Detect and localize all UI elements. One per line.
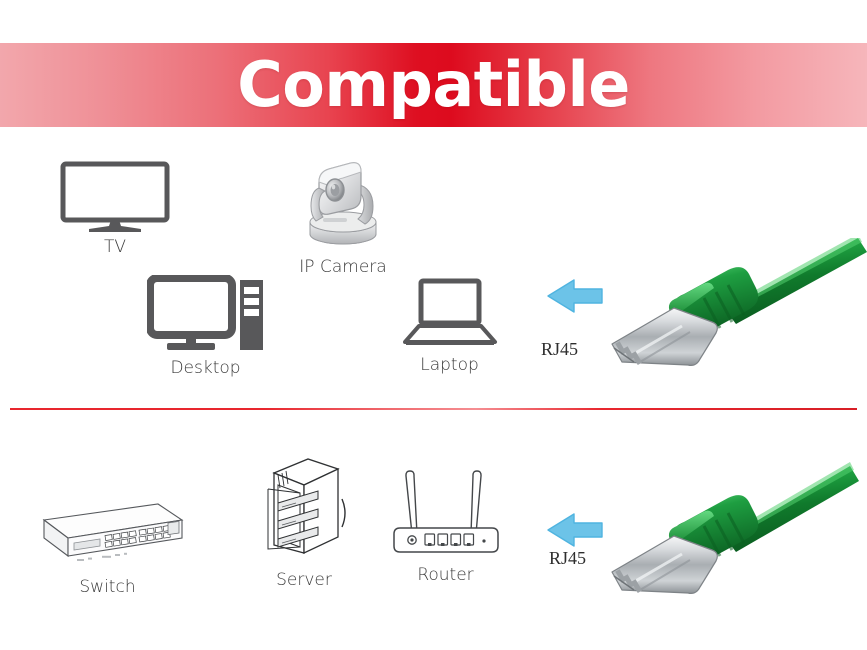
- device-laptop: Laptop: [392, 278, 507, 375]
- rj45-label-bottom: RJ45: [549, 548, 586, 569]
- desktop-icon: [138, 275, 273, 358]
- device-label-laptop: Laptop: [392, 355, 507, 375]
- tv-icon: [45, 160, 185, 237]
- ip-camera-icon: [283, 160, 403, 257]
- device-switch: Switch: [30, 490, 185, 597]
- rj45-cable-icon-top: [600, 238, 867, 375]
- laptop-icon: [392, 278, 507, 355]
- network-switch-icon: [30, 490, 185, 577]
- wifi-router-icon: [388, 460, 503, 565]
- device-label-tv: TV: [45, 237, 185, 257]
- device-desktop: Desktop: [138, 275, 273, 378]
- arrow-left-icon-bottom: [546, 512, 604, 553]
- compatibility-diagram: Compatible TV: [0, 0, 867, 650]
- rj45-label-top: RJ45: [541, 339, 578, 360]
- device-server: Server: [256, 455, 352, 590]
- device-router: Router: [388, 460, 503, 585]
- section-divider: [10, 408, 857, 410]
- device-label-desktop: Desktop: [138, 358, 273, 378]
- header-banner: Compatible: [0, 43, 867, 127]
- device-tv: TV: [45, 160, 185, 257]
- device-label-server: Server: [256, 570, 352, 590]
- rj45-cable-icon-bottom: [600, 462, 867, 607]
- arrow-left-icon-top: [546, 278, 604, 319]
- device-label-switch: Switch: [30, 577, 185, 597]
- page-title: Compatible: [0, 43, 867, 127]
- device-label-ip-camera: IP Camera: [283, 257, 403, 277]
- device-label-router: Router: [388, 565, 503, 585]
- server-rack-icon: [256, 455, 352, 570]
- device-ip-camera: IP Camera: [283, 160, 403, 277]
